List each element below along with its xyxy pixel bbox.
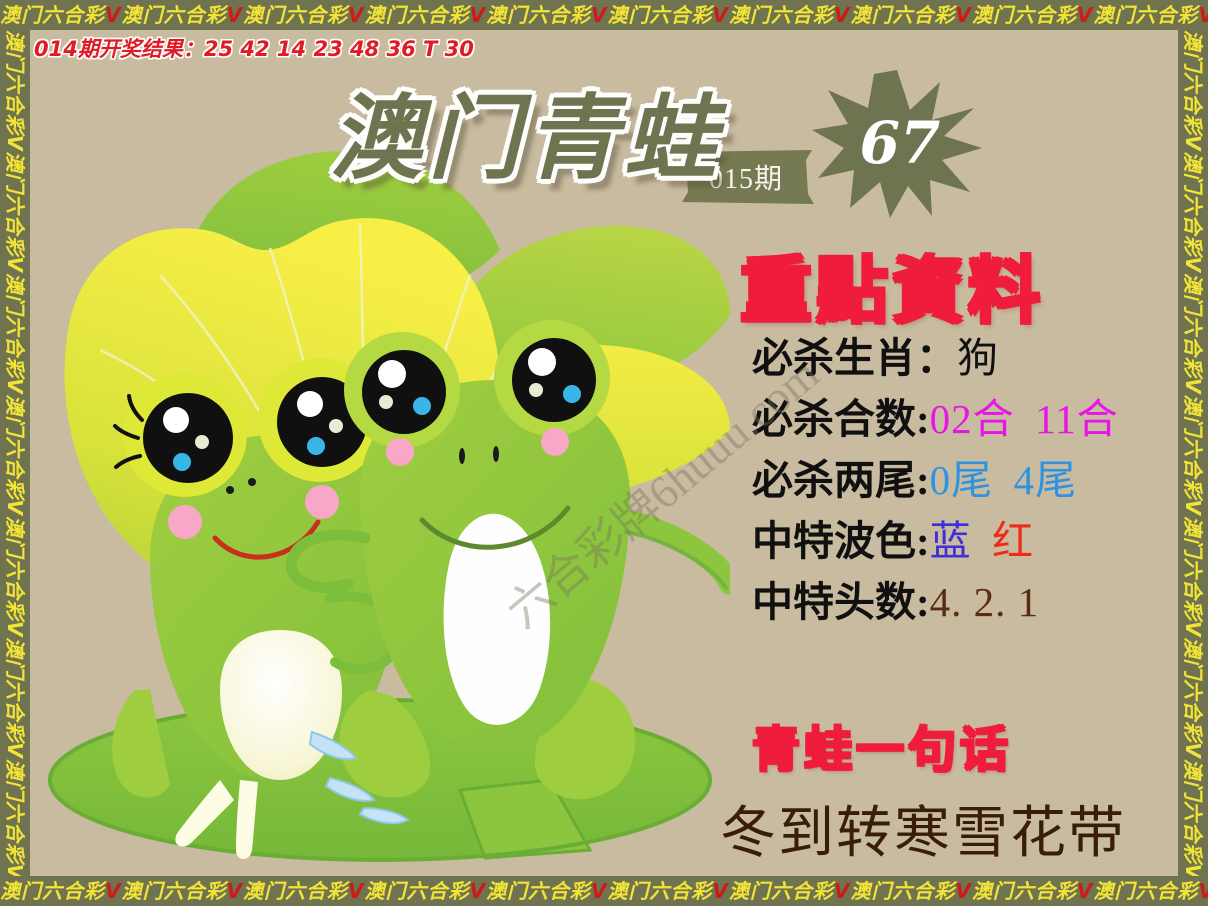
info-row: 必杀合数:02合 11合 bbox=[752, 389, 1178, 450]
badge-number: 67 bbox=[812, 68, 982, 218]
info-row-label: 中特波色: bbox=[752, 518, 930, 564]
key-info-heading: 重點資料 bbox=[740, 232, 1044, 337]
frog-illustration bbox=[30, 90, 730, 876]
value-separator bbox=[993, 457, 1014, 503]
info-row-value: 4尾 bbox=[1014, 457, 1078, 503]
info-row-value: 狗 bbox=[957, 335, 999, 381]
info-row-value: 02合 bbox=[930, 396, 1015, 442]
value-separator bbox=[1015, 396, 1036, 442]
poster-canvas: 澳门六合彩V澳门六合彩V澳门六合彩V澳门六合彩V澳门六合彩V澳门六合彩V澳门六合… bbox=[0, 0, 1208, 906]
slogan-text: 冬到转寒雪花带 bbox=[720, 788, 1126, 869]
border-bottom: 澳门六合彩V澳门六合彩V澳门六合彩V澳门六合彩V澳门六合彩V澳门六合彩V澳门六合… bbox=[0, 876, 1208, 906]
value-separator bbox=[972, 518, 993, 564]
info-row-value: 11合 bbox=[1035, 396, 1118, 442]
border-top: 澳门六合彩V澳门六合彩V澳门六合彩V澳门六合彩V澳门六合彩V澳门六合彩V澳门六合… bbox=[0, 0, 1208, 30]
info-row-label: 必杀两尾: bbox=[752, 457, 930, 503]
starburst-badge: 67 bbox=[812, 68, 982, 218]
info-row-value: 4. 2. 1 bbox=[930, 579, 1040, 625]
page-title: 澳门青蛙 bbox=[330, 64, 722, 197]
info-row: 必杀两尾:0尾 4尾 bbox=[752, 450, 1178, 511]
info-row-value: 蓝 bbox=[930, 518, 972, 564]
border-pattern-left: 澳门六合彩V澳门六合彩V澳门六合彩V澳门六合彩V澳门六合彩V澳门六合彩V澳门六合… bbox=[0, 30, 30, 876]
poster-body: 014期开奖结果：25 42 14 23 48 36 T 30 澳门青蛙 67 … bbox=[30, 30, 1178, 876]
border-right: 澳门六合彩V澳门六合彩V澳门六合彩V澳门六合彩V澳门六合彩V澳门六合彩V澳门六合… bbox=[1178, 30, 1208, 876]
draw-result-line: 014期开奖结果：25 42 14 23 48 36 T 30 bbox=[34, 33, 474, 63]
border-left: 澳门六合彩V澳门六合彩V澳门六合彩V澳门六合彩V澳门六合彩V澳门六合彩V澳门六合… bbox=[0, 30, 30, 876]
border-pattern-bottom: 澳门六合彩V澳门六合彩V澳门六合彩V澳门六合彩V澳门六合彩V澳门六合彩V澳门六合… bbox=[0, 876, 1208, 906]
slogan-heading: 青蛙一句话 bbox=[752, 710, 1012, 780]
info-row: 中特头数:4. 2. 1 bbox=[752, 572, 1178, 633]
info-row-label: 必杀生肖： bbox=[752, 335, 957, 381]
info-row-label: 中特头数: bbox=[752, 579, 930, 625]
info-row-value: 红 bbox=[992, 518, 1034, 564]
info-row-label: 必杀合数: bbox=[752, 396, 930, 442]
border-pattern-top: 澳门六合彩V澳门六合彩V澳门六合彩V澳门六合彩V澳门六合彩V澳门六合彩V澳门六合… bbox=[0, 0, 1208, 30]
border-pattern-right: 澳门六合彩V澳门六合彩V澳门六合彩V澳门六合彩V澳门六合彩V澳门六合彩V澳门六合… bbox=[1178, 30, 1208, 876]
info-row-value: 0尾 bbox=[930, 457, 994, 503]
info-row: 必杀生肖：狗 bbox=[752, 328, 1178, 389]
key-info-list: 必杀生肖：狗必杀合数:02合 11合必杀两尾:0尾 4尾中特波色:蓝 红中特头数… bbox=[752, 328, 1178, 633]
info-row: 中特波色:蓝 红 bbox=[752, 511, 1178, 572]
